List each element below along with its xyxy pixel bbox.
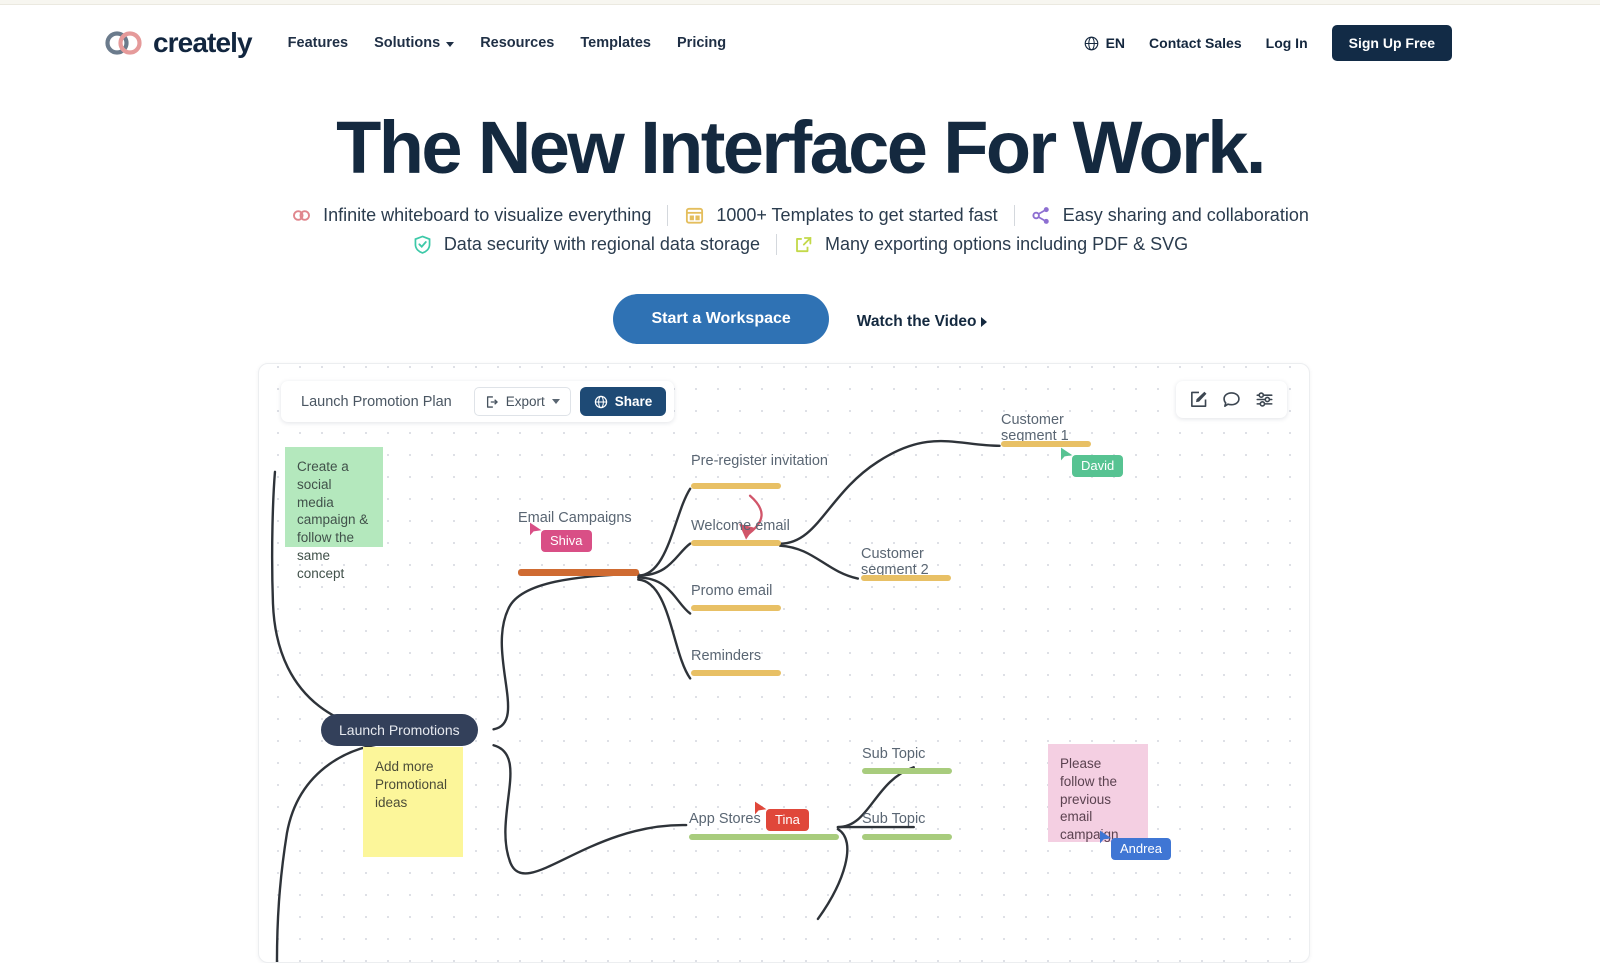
mindmap-label-customer-segment-2[interactable]: Customer segment 2: [861, 546, 929, 579]
shield-check-icon: [412, 234, 433, 255]
nav-item-resources[interactable]: Resources: [480, 35, 554, 51]
hero-feature-exporting: Many exporting options including PDF & S…: [777, 234, 1204, 255]
main-nav: Features Solutions Resources Templates P…: [288, 35, 726, 51]
language-label: EN: [1106, 35, 1125, 51]
hero-feature-infinite-whiteboard: Infinite whiteboard to visualize everyth…: [275, 205, 667, 226]
creately-infinity-logo-icon: [104, 30, 144, 56]
mindmap-bar-welcome-email[interactable]: [691, 540, 781, 546]
collaborator-cursor-tina: Tina: [754, 801, 809, 831]
mindmap-label-reminders[interactable]: Reminders: [691, 648, 761, 664]
comment-bubble-icon[interactable]: [1222, 390, 1241, 409]
mindmap-bar-sub-topic-2[interactable]: [862, 834, 952, 840]
collaborator-name: Tina: [766, 809, 809, 831]
templates-grid-icon: [684, 205, 705, 226]
share-button[interactable]: Share: [580, 387, 667, 416]
nav-label: Templates: [580, 35, 651, 51]
sticky-note-previous-campaign[interactable]: Please follow the previous email campaig…: [1048, 744, 1148, 842]
nav-label: Pricing: [677, 35, 726, 51]
mindmap-label-pre-register-invitation[interactable]: Pre-register invitation: [691, 453, 828, 469]
hero-section: The New Interface For Work. Infinite whi…: [0, 81, 1600, 344]
contact-sales-link[interactable]: Contact Sales: [1149, 35, 1242, 51]
chevron-down-icon: [446, 42, 454, 47]
nav-label: Features: [288, 35, 348, 51]
language-selector[interactable]: EN: [1084, 35, 1125, 51]
canvas-toolbar: Launch Promotion Plan Export Share: [281, 381, 674, 422]
page-title: The New Interface For Work.: [0, 111, 1600, 185]
mindmap-label-app-stores[interactable]: App Stores: [689, 811, 761, 827]
sticky-note-promotional-ideas[interactable]: Add more Promotional ideas: [363, 747, 463, 857]
sliders-settings-icon[interactable]: [1255, 390, 1274, 409]
app-preview-canvas[interactable]: Launch Promotion Plan Export Share: [258, 363, 1310, 963]
globe-icon: [1084, 36, 1099, 51]
infinity-icon: [291, 205, 312, 226]
nav-label: Solutions: [374, 35, 440, 51]
nav-label: Resources: [480, 35, 554, 51]
header-actions: EN Contact Sales Log In Sign Up Free: [1084, 25, 1452, 61]
chevron-right-icon: [981, 317, 987, 327]
log-in-link[interactable]: Log In: [1266, 35, 1308, 51]
hero-feature-label: Easy sharing and collaboration: [1063, 205, 1309, 226]
nav-item-templates[interactable]: Templates: [580, 35, 651, 51]
collaborator-name: Shiva: [541, 530, 592, 552]
hero-feature-label: 1000+ Templates to get started fast: [716, 205, 997, 226]
mindmap-bar-reminders[interactable]: [691, 670, 781, 676]
edit-pencil-square-icon[interactable]: [1189, 390, 1208, 409]
document-title[interactable]: Launch Promotion Plan: [289, 390, 474, 414]
sign-up-free-button[interactable]: Sign Up Free: [1332, 25, 1452, 61]
export-icon: [485, 395, 499, 409]
hero-feature-label: Many exporting options including PDF & S…: [825, 234, 1188, 255]
mindmap-bar-sub-topic-1[interactable]: [862, 768, 952, 774]
nav-item-pricing[interactable]: Pricing: [677, 35, 726, 51]
chevron-down-icon: [552, 399, 560, 404]
nav-item-features[interactable]: Features: [288, 35, 348, 51]
mindmap-bar-customer-segment-2[interactable]: [861, 575, 951, 581]
mindmap-label-sub-topic-2[interactable]: Sub Topic: [862, 811, 925, 827]
hero-feature-label: Infinite whiteboard to visualize everyth…: [323, 205, 651, 226]
start-a-workspace-button[interactable]: Start a Workspace: [613, 294, 828, 344]
sticky-note-social-campaign[interactable]: Create a social media campaign & follow …: [285, 447, 383, 547]
collaborator-cursor-shiva: Shiva: [529, 522, 592, 552]
mindmap-bar-pre-register-invitation[interactable]: [691, 483, 781, 489]
brand-name: creately: [153, 27, 252, 59]
mindmap-label-sub-topic-1[interactable]: Sub Topic: [862, 746, 925, 762]
mindmap-label-welcome-email[interactable]: Welcome email: [691, 518, 790, 534]
watch-the-video-link[interactable]: Watch the Video: [857, 313, 987, 331]
share-network-icon: [1031, 205, 1052, 226]
hero-feature-label: Data security with regional data storage: [444, 234, 760, 255]
mindmap-label-customer-segment-1[interactable]: Customer segment 1: [1001, 412, 1069, 445]
mindmap-bar-app-stores[interactable]: [689, 834, 839, 840]
brand-logo-link[interactable]: creately: [104, 27, 252, 59]
collaborator-cursor-david: David: [1060, 447, 1123, 477]
hero-cta-row: Start a Workspace Watch the Video: [0, 294, 1600, 344]
watch-video-label: Watch the Video: [857, 313, 977, 331]
mindmap-node-launch-promotions[interactable]: Launch Promotions: [321, 714, 478, 746]
collaborator-cursor-andrea: Andrea: [1099, 830, 1171, 860]
collaborator-name: Andrea: [1111, 838, 1171, 860]
globe-share-icon: [594, 395, 608, 409]
canvas-tool-icons: [1176, 381, 1287, 418]
collaborator-name: David: [1072, 455, 1123, 477]
hero-feature-row-2: Data security with regional data storage…: [0, 234, 1600, 255]
share-label: Share: [615, 394, 653, 409]
mindmap-bar-email-campaigns[interactable]: [518, 569, 639, 576]
hero-feature-row-1: Infinite whiteboard to visualize everyth…: [0, 205, 1600, 226]
external-link-icon: [793, 234, 814, 255]
export-button[interactable]: Export: [474, 387, 571, 416]
hero-feature-templates: 1000+ Templates to get started fast: [668, 205, 1013, 226]
hero-feature-sharing: Easy sharing and collaboration: [1015, 205, 1325, 226]
hero-feature-data-security: Data security with regional data storage: [396, 234, 776, 255]
mindmap-bar-promo-email[interactable]: [691, 605, 781, 611]
site-header: creately Features Solutions Resources Te…: [0, 5, 1600, 81]
nav-item-solutions[interactable]: Solutions: [374, 35, 454, 51]
mindmap-label-promo-email[interactable]: Promo email: [691, 583, 772, 599]
export-label: Export: [506, 394, 545, 409]
